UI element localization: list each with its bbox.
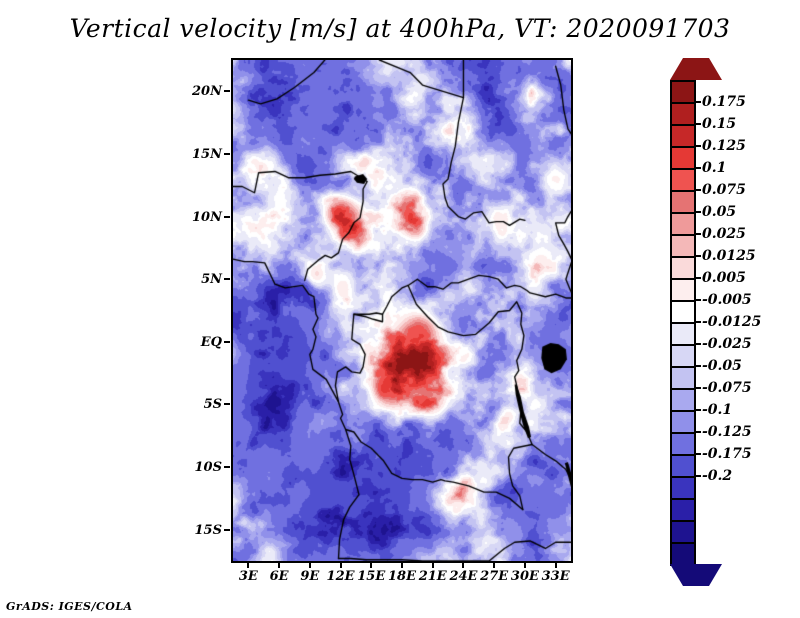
- colorbar-band: [670, 256, 696, 280]
- colorbar-over-arrow: [670, 58, 722, 80]
- colorbar-band: [670, 146, 696, 170]
- colorbar-tick-mark: [696, 475, 701, 477]
- y-axis-tick-label: 20N: [192, 84, 222, 99]
- colorbar-band: [670, 168, 696, 192]
- colorbar-band: [670, 410, 696, 434]
- colorbar-band: [670, 278, 696, 302]
- colorbar-tick-label: -0.1: [702, 403, 732, 417]
- colorbar-tick-mark: [696, 321, 701, 323]
- x-axis-tick-label: 33E: [536, 569, 576, 584]
- colorbar-tick-mark: [696, 233, 701, 235]
- y-axis-tick-mark: [224, 216, 230, 218]
- colorbar-tick-mark: [696, 123, 701, 125]
- colorbar-band: [670, 432, 696, 456]
- y-axis-tick-label: 5N: [201, 272, 222, 287]
- colorbar-tick-mark: [696, 277, 701, 279]
- colorbar-tick-mark: [696, 409, 701, 411]
- x-axis-tick-mark: [555, 563, 557, 568]
- colorbar-tick-label: -0.05: [702, 359, 742, 373]
- y-axis-tick-mark: [224, 90, 230, 92]
- colorbar-under-arrow: [670, 564, 722, 586]
- colorbar-band: [670, 454, 696, 478]
- colorbar-band: [670, 102, 696, 126]
- colorbar-tick-label: 0.175: [702, 95, 746, 109]
- colorbar-tick-label: -0.175: [702, 447, 752, 461]
- colorbar-band: [670, 234, 696, 258]
- colorbar-tick-label: -0.0125: [702, 315, 761, 329]
- x-axis-tick-mark: [401, 563, 403, 568]
- x-axis-tick-mark: [278, 563, 280, 568]
- y-axis-tick-mark: [224, 403, 230, 405]
- y-axis-tick-mark: [224, 529, 230, 531]
- colorbar-band: [670, 520, 696, 544]
- x-axis-tick-mark: [432, 563, 434, 568]
- x-axis-tick-mark: [247, 563, 249, 568]
- colorbar-band: [670, 322, 696, 346]
- colorbar-tick-label: 0.05: [702, 205, 736, 219]
- colorbar-tick-label: 0.075: [702, 183, 746, 197]
- y-axis-tick-mark: [224, 341, 230, 343]
- y-axis-tick-label: EQ: [201, 335, 222, 350]
- colorbar-tick-mark: [696, 167, 701, 169]
- colorbar-band: [670, 542, 696, 566]
- colorbar-tick-label: 0.025: [702, 227, 746, 241]
- colorbar-band: [670, 366, 696, 390]
- vertical-velocity-heatmap: [233, 60, 571, 561]
- x-axis-tick-mark: [340, 563, 342, 568]
- colorbar-tick-label: 0.0125: [702, 249, 756, 263]
- y-axis-tick-label: 10N: [192, 210, 222, 225]
- y-axis-tick-label: 15N: [192, 147, 222, 162]
- x-axis-tick-mark: [493, 563, 495, 568]
- colorbar-band: [670, 212, 696, 236]
- y-axis-tick-label: 10S: [195, 460, 222, 475]
- colorbar-tick-mark: [696, 255, 701, 257]
- y-axis-tick-label: 15S: [195, 523, 222, 538]
- colorbar-band: [670, 388, 696, 412]
- x-axis-tick-mark: [524, 563, 526, 568]
- colorbar-band: [670, 124, 696, 148]
- y-axis-tick-label: 5S: [204, 397, 222, 412]
- colorbar-tick-label: 0.15: [702, 117, 736, 131]
- colorbar-tick-label: 0.005: [702, 271, 746, 285]
- colorbar-band: [670, 190, 696, 214]
- colorbar-band: [670, 344, 696, 368]
- colorbar-tick-mark: [696, 431, 701, 433]
- colorbar-tick-mark: [696, 299, 701, 301]
- x-axis-tick-mark: [370, 563, 372, 568]
- colorbar-tick-label: 0.125: [702, 139, 746, 153]
- colorbar-tick-mark: [696, 365, 701, 367]
- colorbar: 0.1750.150.1250.10.0750.050.0250.01250.0…: [670, 58, 800, 558]
- colorbar-tick-label: -0.005: [702, 293, 752, 307]
- footer-credit: GrADS: IGES/COLA: [6, 600, 133, 613]
- colorbar-tick-mark: [696, 101, 701, 103]
- colorbar-tick-label: -0.125: [702, 425, 752, 439]
- x-axis-tick-mark: [309, 563, 311, 568]
- colorbar-tick-mark: [696, 211, 701, 213]
- y-axis-tick-mark: [224, 153, 230, 155]
- colorbar-tick-mark: [696, 145, 701, 147]
- colorbar-band: [670, 80, 696, 104]
- page-title: Vertical velocity [m/s] at 400hPa, VT: 2…: [0, 14, 800, 43]
- colorbar-band: [670, 476, 696, 500]
- colorbar-tick-mark: [696, 343, 701, 345]
- colorbar-tick-label: -0.025: [702, 337, 752, 351]
- x-axis-tick-mark: [462, 563, 464, 568]
- colorbar-tick-mark: [696, 387, 701, 389]
- map-plot-area: [231, 58, 573, 563]
- colorbar-tick-mark: [696, 453, 701, 455]
- y-axis-tick-mark: [224, 466, 230, 468]
- colorbar-tick-label: -0.075: [702, 381, 752, 395]
- colorbar-band: [670, 300, 696, 324]
- colorbar-band: [670, 498, 696, 522]
- colorbar-tick-mark: [696, 189, 701, 191]
- colorbar-tick-label: -0.2: [702, 469, 732, 483]
- colorbar-tick-label: 0.1: [702, 161, 726, 175]
- y-axis-tick-mark: [224, 278, 230, 280]
